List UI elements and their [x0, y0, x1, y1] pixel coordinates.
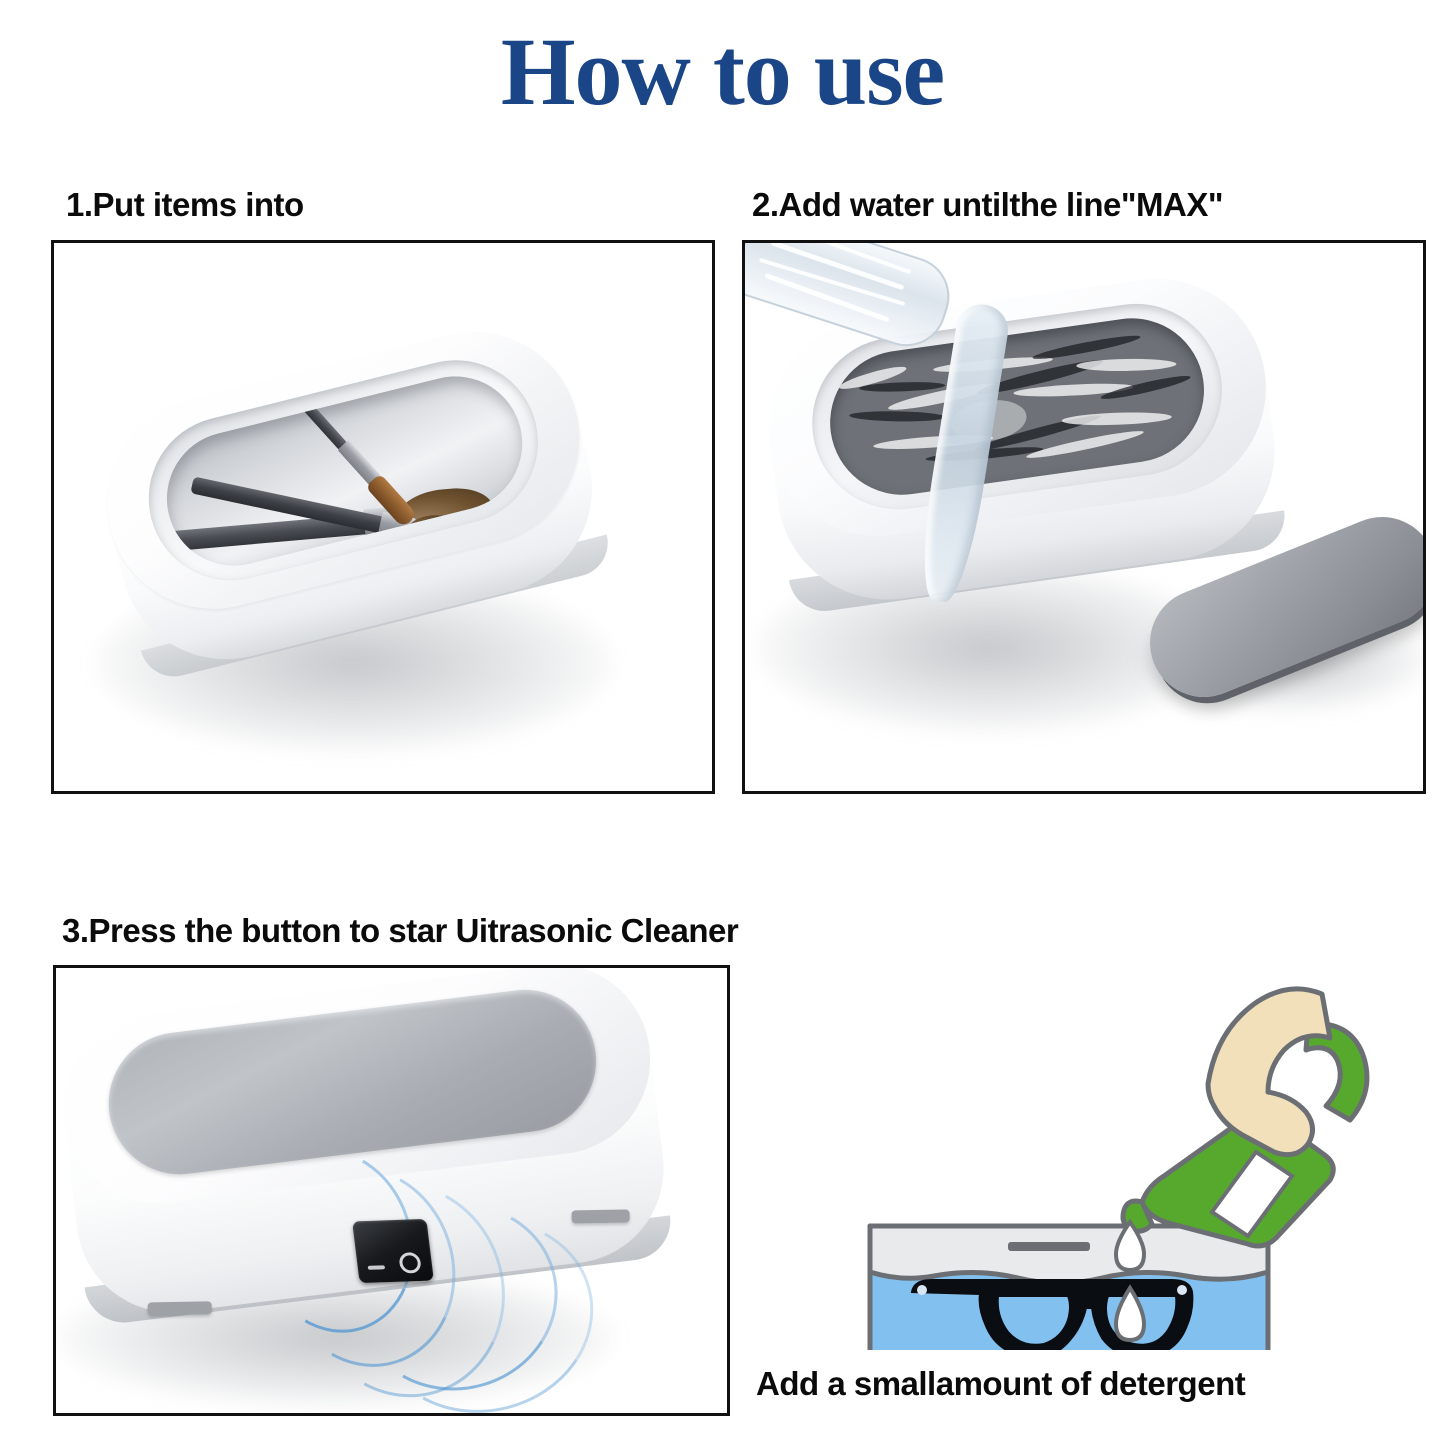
photo-panel-step-3: [53, 965, 730, 1416]
step-3-scene: [56, 968, 727, 1413]
infographic-page: How to use 1.Put items into: [0, 0, 1445, 1445]
step-2-scene: [745, 243, 1423, 791]
step-3-heading: 3.Press the button to star Uitrasonic Cl…: [62, 912, 738, 950]
cleaner-foot-right: [572, 1209, 630, 1223]
switch-off-mark: [398, 1252, 422, 1274]
step-1-scene: [54, 243, 712, 791]
detergent-caption: Add a smallamount of detergent: [756, 1365, 1245, 1403]
switch-on-mark: [368, 1265, 386, 1270]
step-1-heading: 1.Put items into: [66, 186, 304, 224]
step-2-heading: 2.Add water untilthe line"MAX": [752, 186, 1223, 224]
cleaner-foot-left: [148, 1301, 212, 1315]
power-rocker-switch[interactable]: [352, 1219, 434, 1283]
photo-panel-step-1: [51, 240, 715, 794]
photo-panel-step-2: [742, 240, 1426, 794]
max-line: [1008, 1242, 1090, 1251]
page-title: How to use: [0, 22, 1445, 123]
detergent-illustration: [856, 980, 1396, 1350]
